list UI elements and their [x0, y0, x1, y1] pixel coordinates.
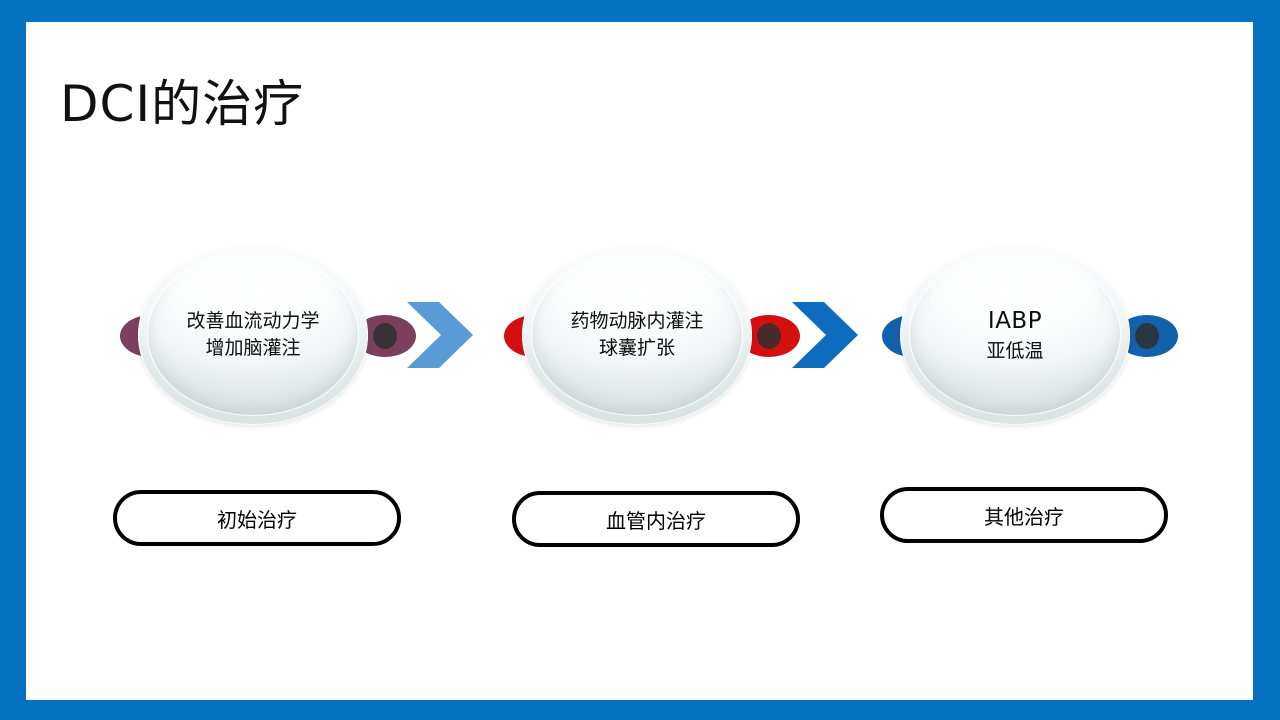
stage-3-line-latin: IABP	[988, 305, 1042, 338]
stage-2-line-2: 球囊扩张	[599, 335, 675, 362]
chevron-right-icon	[405, 296, 475, 374]
process-stage-1[interactable]: 改善血流动力学 增加脑灌注	[138, 245, 398, 425]
process-flow-diagram: 改善血流动力学 增加脑灌注 药物动脉内灌注 球囊扩张	[0, 0, 1280, 720]
stage-2-line-1: 药物动脉内灌注	[570, 308, 703, 335]
stage-1-category-label[interactable]: 初始治疗	[113, 490, 401, 546]
stage-3-text: IABP 亚低温	[900, 245, 1130, 425]
stage-3-accent-right-core	[1135, 323, 1159, 349]
stage-2-text: 药物动脉内灌注 球囊扩张	[522, 245, 752, 425]
process-stage-3[interactable]: IABP 亚低温	[900, 245, 1160, 425]
arrow-stage2-to-stage3	[790, 296, 860, 374]
arrow-stage1-to-stage2	[405, 296, 475, 374]
slide-frame: DCI的治疗 改善血流动力学 增加脑灌注	[0, 0, 1280, 720]
stage-1-accent-right-core	[373, 323, 397, 349]
stage-1-text: 改善血流动力学 增加脑灌注	[138, 245, 368, 425]
stage-2-accent-right-core	[757, 323, 781, 349]
stage-3-category-label[interactable]: 其他治疗	[880, 487, 1168, 543]
process-stage-2[interactable]: 药物动脉内灌注 球囊扩张	[522, 245, 782, 425]
stage-1-line-2: 增加脑灌注	[205, 335, 300, 362]
chevron-right-icon	[790, 296, 860, 374]
stage-1-line-1: 改善血流动力学	[186, 308, 319, 335]
stage-3-line-1: 亚低温	[986, 338, 1043, 365]
stage-2-category-label[interactable]: 血管内治疗	[512, 491, 800, 547]
